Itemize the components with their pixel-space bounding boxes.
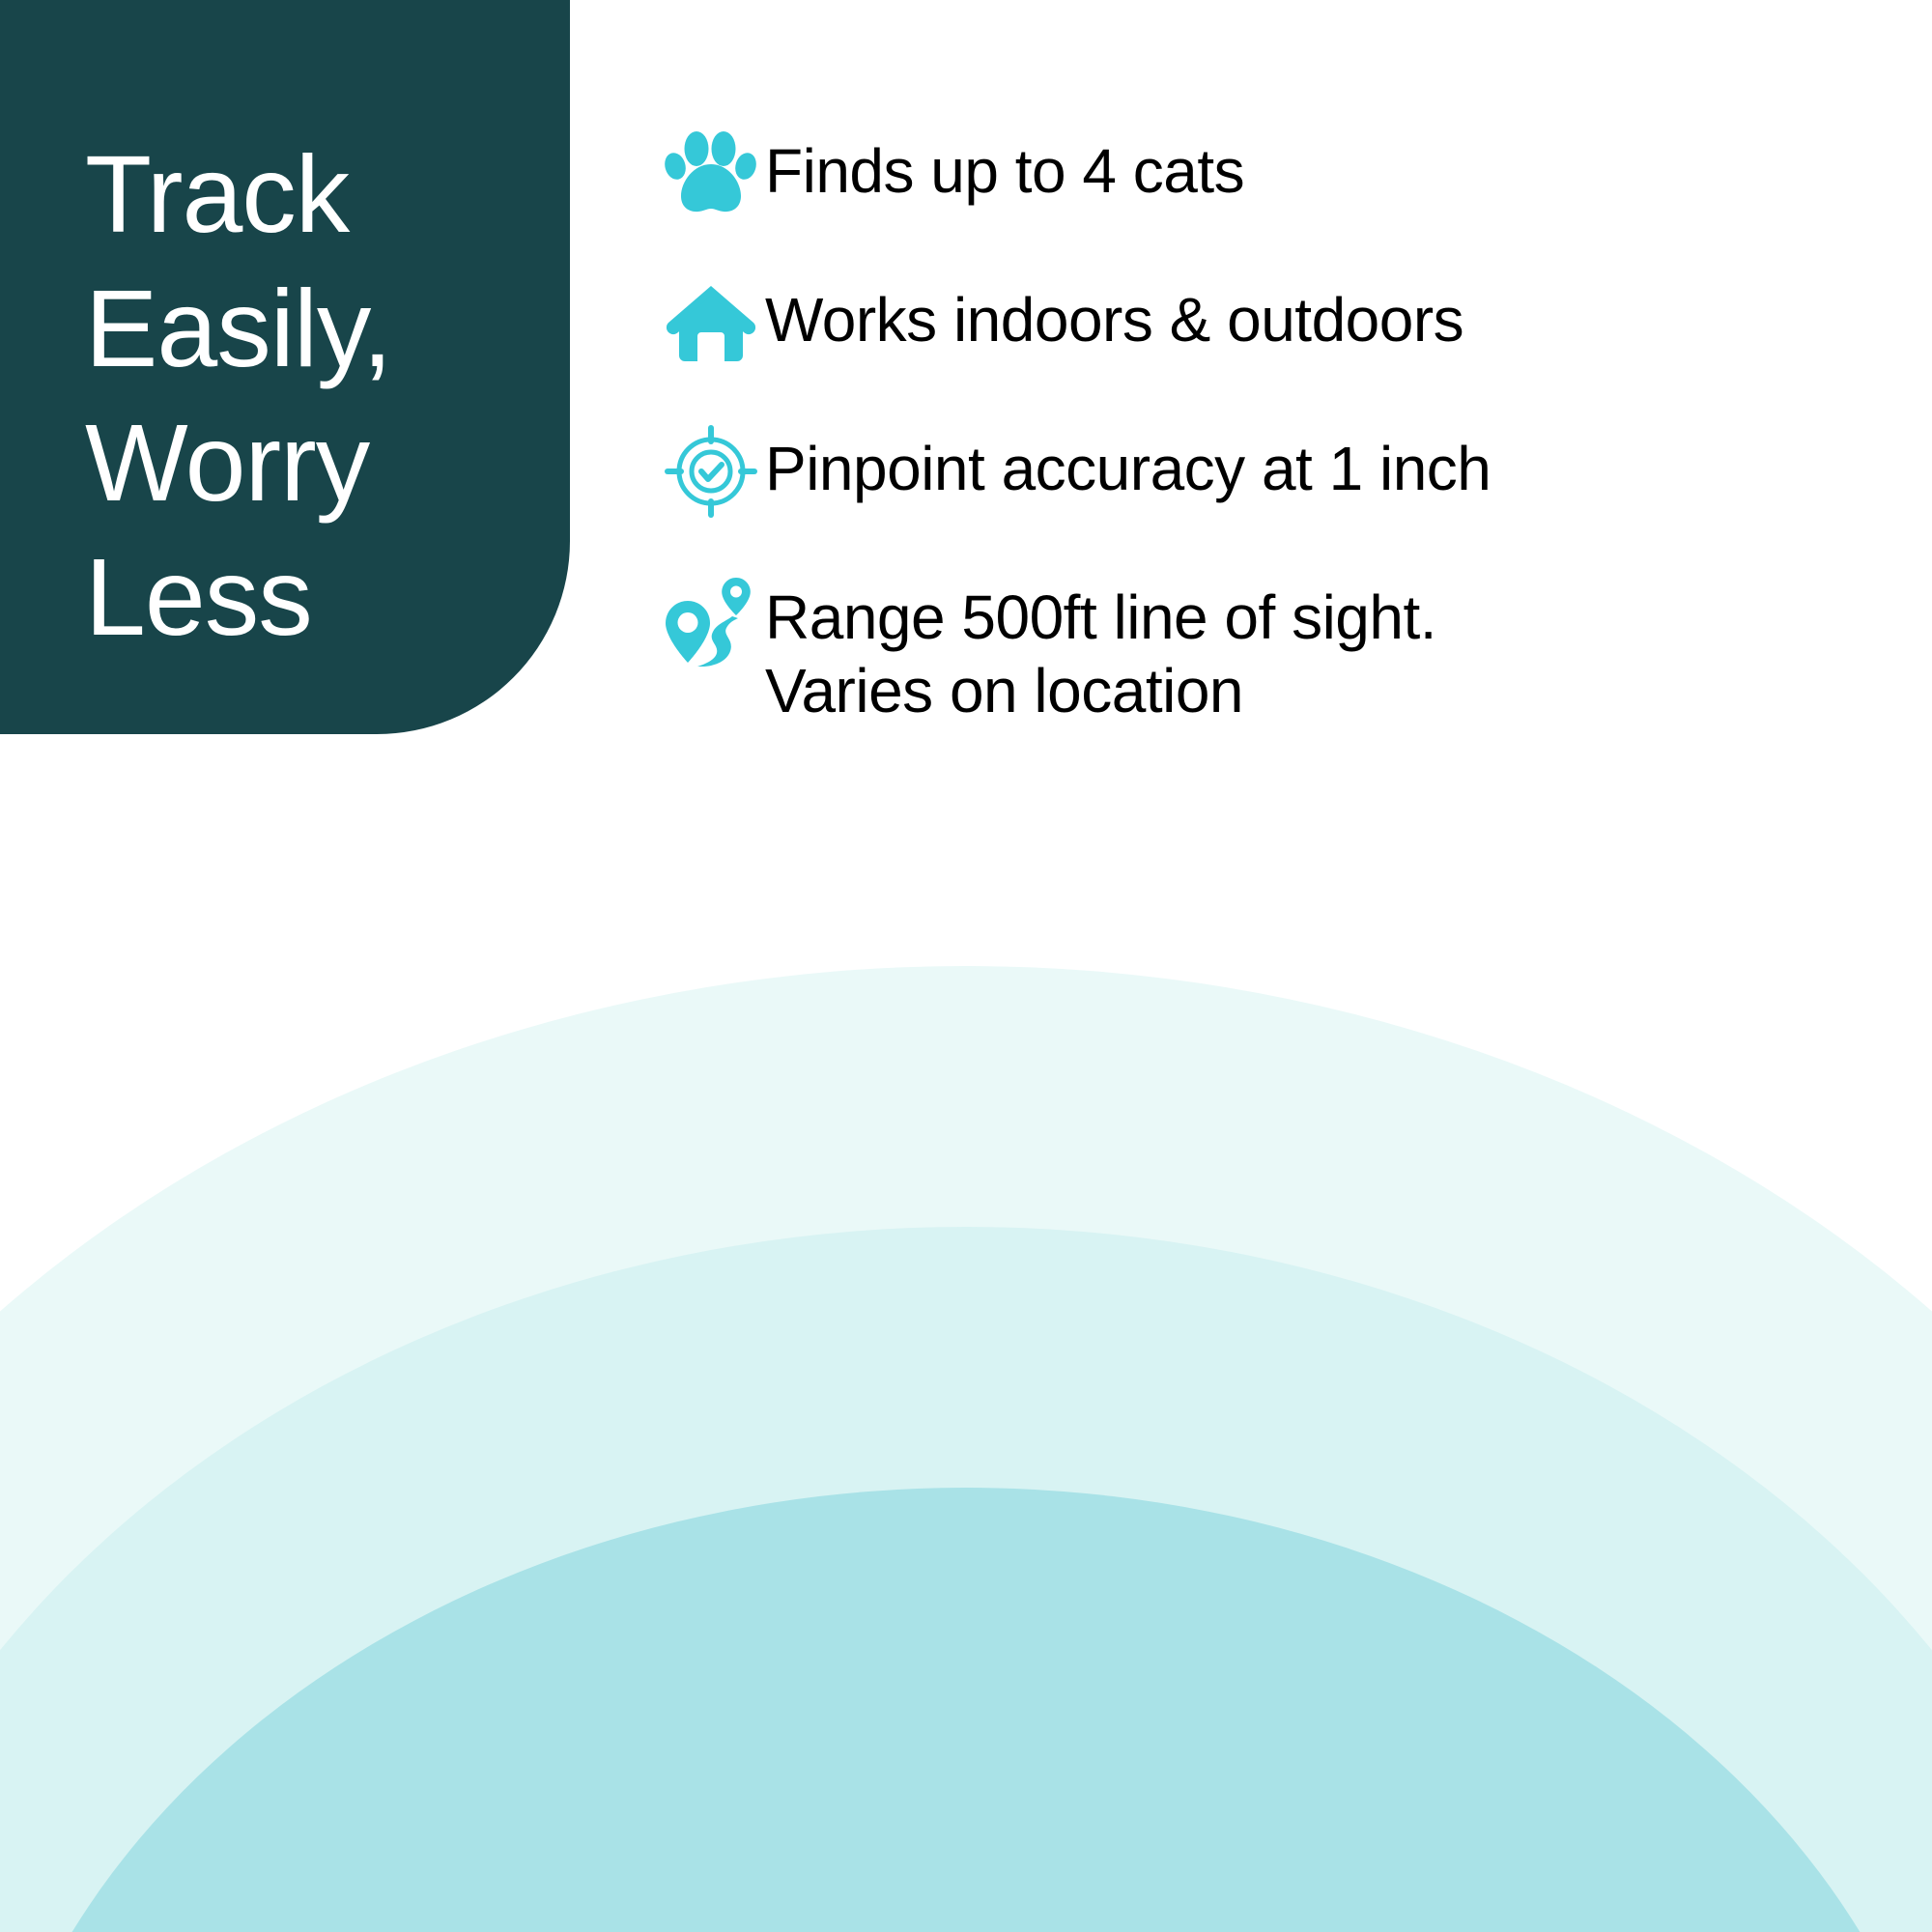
route-pins-icon [657,570,765,670]
feature-label: Range 500ft line of sight.Varies on loca… [765,570,1436,727]
headline-panel: TrackEasily,WorryLess [0,0,570,734]
product-photo: tabcat [0,908,1932,1932]
promo-graphic: TrackEasily,WorryLess Finds up to 4 cats [0,0,1932,1932]
paw-icon [657,124,765,224]
page-title: TrackEasily,WorryLess [85,128,539,665]
feature-item-finds-cats: Finds up to 4 cats [657,124,1913,224]
home-icon [657,272,765,373]
feature-list: Finds up to 4 cats Works indoors & outdo… [657,124,1913,727]
feature-label: Works indoors & outdoors [765,272,1463,357]
feature-item-pinpoint-accuracy: Pinpoint accuracy at 1 inch [657,421,1913,522]
feature-label: Pinpoint accuracy at 1 inch [765,421,1491,506]
feature-item-indoors-outdoors: Works indoors & outdoors [657,272,1913,373]
feature-label: Finds up to 4 cats [765,124,1244,209]
target-check-icon [657,421,765,522]
feature-item-range: Range 500ft line of sight.Varies on loca… [657,570,1913,727]
